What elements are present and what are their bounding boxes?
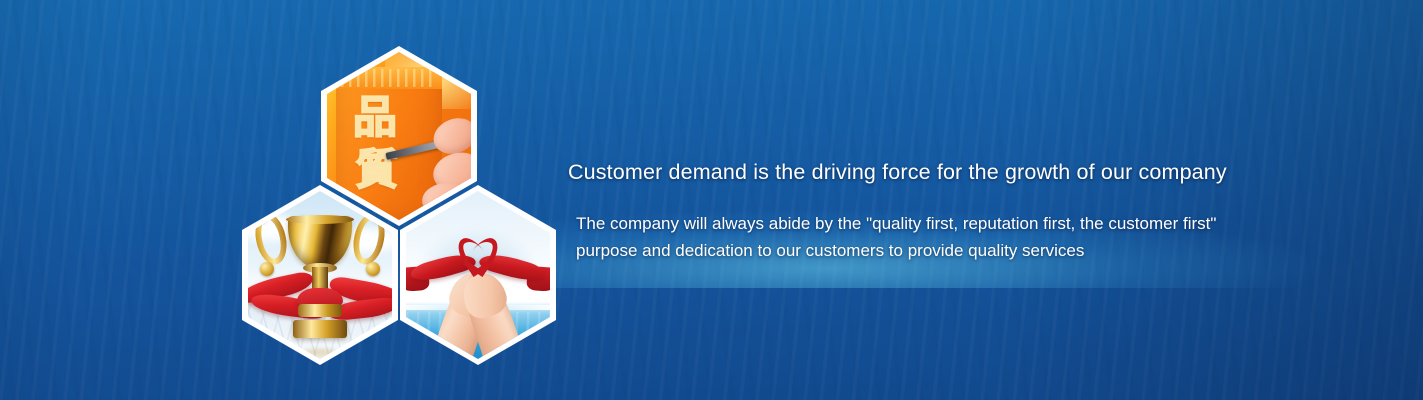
- hexagon-image-cluster: 品質: [238, 46, 560, 368]
- banner-copy: Customer demand is the driving force for…: [568, 160, 1278, 264]
- gold-trophy-icon: [248, 191, 392, 359]
- hexagon-quality-seal[interactable]: 品質: [321, 46, 477, 226]
- promotional-banner: 品質: [0, 0, 1423, 400]
- banner-headline: Customer demand is the driving force for…: [568, 160, 1278, 185]
- hexagon-customer-care-frame: [406, 191, 550, 359]
- hands-holding-heart-icon: [406, 191, 550, 359]
- heart-icon: [461, 236, 495, 266]
- chinese-seal-stamp-icon: 品質: [327, 52, 471, 220]
- hexagon-award-trophy-frame: [248, 191, 392, 359]
- hexagon-customer-care[interactable]: [400, 185, 556, 365]
- banner-subcopy: The company will always abide by the "qu…: [576, 211, 1248, 264]
- seal-character-top: 品: [353, 96, 397, 140]
- hexagon-award-trophy[interactable]: [242, 185, 398, 365]
- hexagon-quality-seal-frame: 品質: [327, 52, 471, 220]
